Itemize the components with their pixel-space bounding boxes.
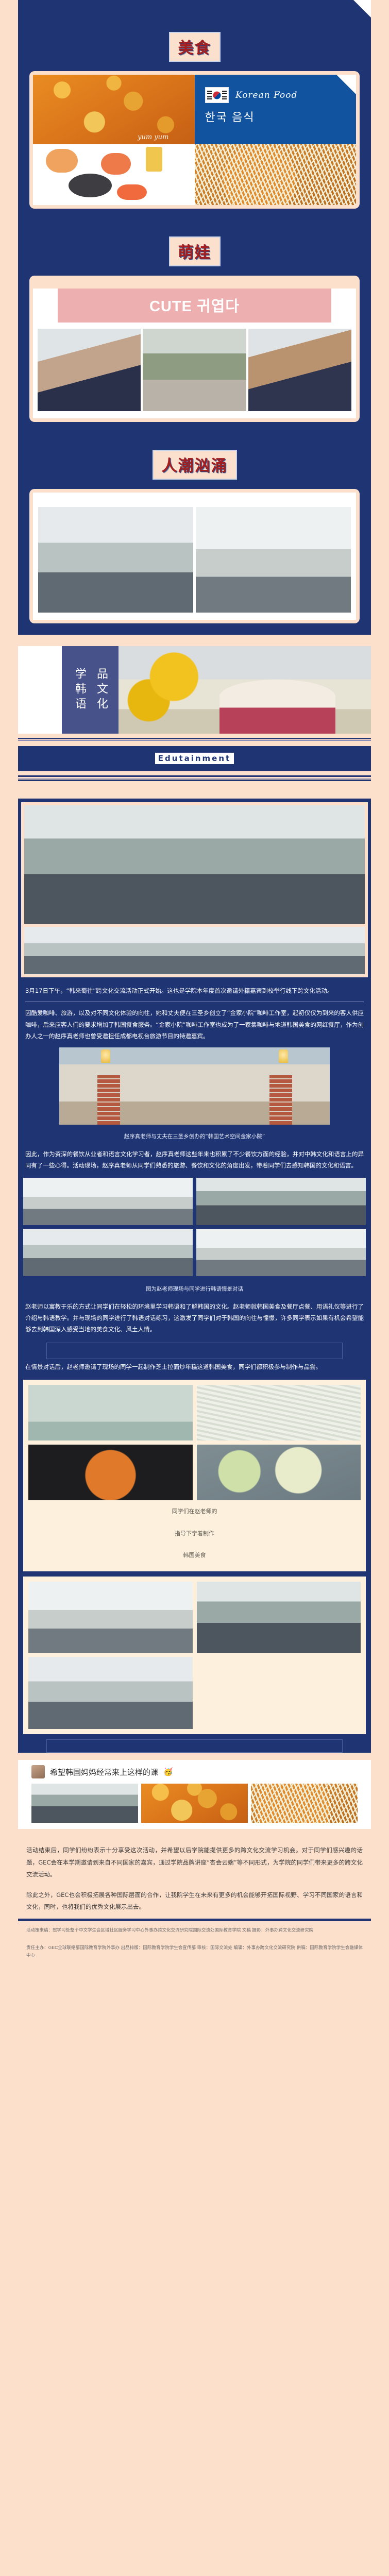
crowd-banner: 人潮汹涌	[153, 450, 237, 480]
article-caption-1: 赵序真老师与丈夫在三圣乡创办的“韩国艺术空间金家小院”	[18, 1128, 371, 1142]
article-paragraph-1: 3月17日下午，“韩来蜀往”跨文化交流活动正式开始。这也是学院本年度首次邀请外籍…	[18, 979, 371, 998]
photo-cooking-line	[196, 507, 351, 613]
photo-dialogue-2	[196, 1178, 366, 1225]
photo-lecture-hall	[24, 805, 365, 924]
photo-cooking-pan	[28, 1445, 193, 1500]
rule-group-top	[18, 738, 371, 741]
kids-card-inner: CUTE 귀엽다	[33, 289, 356, 418]
photo-comment-3	[251, 1784, 358, 1823]
ingredient-caption-line-2: 指导下学着制作	[28, 1522, 361, 1545]
cute-banner: CUTE 귀엽다	[58, 289, 331, 323]
kids-photo-card: CUTE 귀엽다	[29, 276, 360, 422]
footer-paragraph-2: 除此之外，GEC也会积极拓展各种国际层面的合作，让我院学生在未来有更多的机会能够…	[18, 1886, 371, 1919]
article-paragraph-4: 赵老师以寓教于乐的方式让同学们在轻松的环境里学习韩语和了解韩国的文化。赵老师就韩…	[18, 1295, 371, 1337]
taeguk-symbol	[213, 91, 221, 99]
photo-band-dialogue	[18, 1174, 371, 1280]
illustration-rice-bowl	[117, 184, 147, 200]
lamp-icon-right	[279, 1049, 288, 1063]
yum-yum-overlay: yum yum	[138, 133, 168, 141]
korean-food-hangul-label: 한국 음식	[205, 108, 357, 125]
folded-corner-icon	[353, 0, 371, 18]
kids-photo-grid	[33, 323, 356, 418]
food-photo-card: yum yum Korean Food 한국 음식	[29, 71, 360, 209]
photo-audience	[24, 927, 365, 974]
photo-korean-food-illustration	[33, 144, 195, 205]
photo-cooking-group-3	[28, 1657, 193, 1729]
cooking-grid-blank	[197, 1657, 361, 1729]
photo-dialogue-3	[23, 1229, 193, 1276]
edutainment-label: Edutainment	[155, 753, 234, 764]
cooking-photo-card	[23, 1577, 366, 1734]
crowd-section-panel: 人潮汹涌	[18, 433, 371, 635]
photo-ingredients-noodles	[197, 1385, 361, 1440]
photo-ingredients-drinks	[28, 1385, 193, 1440]
article-body: 3月17日下午，“韩来蜀往”跨文化交流活动正式开始。这也是学院本年度首次邀请外籍…	[18, 799, 371, 1753]
article-lead-photo-card	[21, 802, 368, 977]
article-paragraph-5: 在情景对话后，赵老师邀请了现场的同学一起制作芝士拉面炒年糕这道韩国美食，同学们都…	[18, 1359, 371, 1375]
photo-cheese-tteokbokki	[195, 144, 357, 205]
footer-credits-1: 活动策来稿：熙学习处整个中文学生会区域社区服务学习中心外事办跨文化交流研究院国际…	[18, 1921, 371, 1944]
user-avatar-icon	[31, 1765, 45, 1778]
photo-dialogue-1	[23, 1178, 193, 1225]
hero-vertical-left: 学韩语	[71, 668, 88, 713]
card-folded-corner-icon	[336, 75, 356, 94]
crowd-photo-card	[29, 489, 360, 623]
food-photo-grid: yum yum Korean Food 한국 음식	[33, 75, 356, 205]
article-paragraph-3: 因此，作为资深的餐饮从业者和语言文化学习者，赵序真老师这些年来也积累了不少餐饮方…	[18, 1142, 371, 1174]
crowd-banner-wrap: 人潮汹涌	[18, 443, 371, 489]
poster-page: 美食 yum yum Korean Food 한국 음	[0, 0, 389, 1981]
spacer-before-hero	[0, 635, 389, 646]
photo-classroom-crowd	[38, 507, 193, 613]
hero-vertical-title: 学韩语 品文化	[62, 646, 119, 734]
rule-group-bottom	[18, 775, 371, 781]
cooking-grid-bottom	[28, 1657, 361, 1729]
decorative-frame	[46, 1343, 343, 1359]
ingredient-caption-line-3: 韩国美食	[28, 1544, 361, 1566]
illustration-grill	[69, 174, 112, 197]
photo-kid-1	[38, 329, 141, 411]
crowd-photo-grid	[33, 507, 356, 620]
photo-vegetables	[197, 1445, 361, 1500]
cooking-grid-top	[28, 1582, 361, 1653]
photo-cooking-group-2	[197, 1582, 361, 1653]
illustration-bowl	[46, 149, 78, 173]
article-divider-1	[25, 1002, 364, 1002]
party-emoji-icon: 🥳	[163, 1767, 173, 1776]
kids-banner: 萌娃	[169, 236, 221, 266]
illustration-ramen-pack	[146, 147, 162, 172]
article-paragraph-2: 因酷爱咖啡、旅游，以及对不同文化体验的向往，她和丈夫便在三圣乡创立了“金家小院”…	[18, 1005, 371, 1044]
footer-credits-2: 责任主办：GEC全球联络部国际教育学院外事办 出品排版：国际教育学院学生会宣传部…	[18, 1944, 371, 1969]
spacer-before-footer	[0, 1829, 389, 1836]
edutainment-bar: Edutainment	[18, 746, 371, 771]
korea-flag-icon	[205, 87, 229, 103]
lamp-icon-left	[101, 1049, 110, 1063]
food-banner: 美食	[169, 32, 221, 62]
photo-cooking-group-1	[28, 1582, 193, 1653]
photo-dialogue-4	[196, 1229, 366, 1276]
photo-jinjia-courtyard	[59, 1047, 330, 1125]
ingredient-photo-card: 同学们在赵老师的 指导下学着制作 韩国美食	[23, 1380, 366, 1571]
kids-banner-wrap: 萌娃	[18, 229, 371, 276]
photo-kid-2	[143, 329, 246, 411]
hero-left-blank	[18, 646, 62, 734]
comment-row[interactable]: 希望韩国妈妈经常来上这样的课 🥳	[18, 1760, 371, 1784]
ingredient-grid-bottom	[28, 1445, 361, 1500]
ingredient-caption-line-1: 同学们在赵老师的	[28, 1500, 361, 1522]
decorative-frame-2	[46, 1739, 343, 1753]
comment-text: 希望韩国妈妈经常来上这样的课	[50, 1767, 158, 1777]
photo-hanbok-palace	[119, 646, 371, 734]
spacer-before-article	[0, 781, 389, 790]
comment-photo-row	[18, 1784, 371, 1829]
food-banner-wrap: 美食	[18, 25, 371, 71]
photo-tteokbokki: yum yum	[33, 75, 195, 144]
korean-food-card: Korean Food 한국 음식	[195, 75, 357, 144]
hero-strip: 学韩语 品文化	[18, 646, 371, 734]
photo-comment-1	[31, 1784, 138, 1823]
crowd-card-inner	[33, 493, 356, 620]
article-caption-2: 图为赵老师现场与同学进行韩语情景对话	[18, 1280, 371, 1295]
illustration-noodle-bowl	[101, 153, 131, 175]
food-section-panel: 美食 yum yum Korean Food 한국 음	[18, 0, 371, 220]
ingredient-grid-top	[28, 1385, 361, 1440]
korean-food-english-label: Korean Food	[235, 90, 297, 100]
crowd-card-spacer	[33, 493, 356, 507]
photo-comment-2	[141, 1784, 248, 1823]
hero-vertical-right: 品文化	[93, 668, 109, 713]
photo-kid-3	[248, 329, 351, 411]
footer-paragraph-1: 活动结束后，同学们纷纷表示十分享受这次活动，并希望以后学院能提供更多的跨文化交流…	[18, 1836, 371, 1886]
page-bottom-spacer	[0, 1969, 389, 1981]
kids-section-panel: 萌娃 CUTE 귀엽다	[18, 220, 371, 433]
